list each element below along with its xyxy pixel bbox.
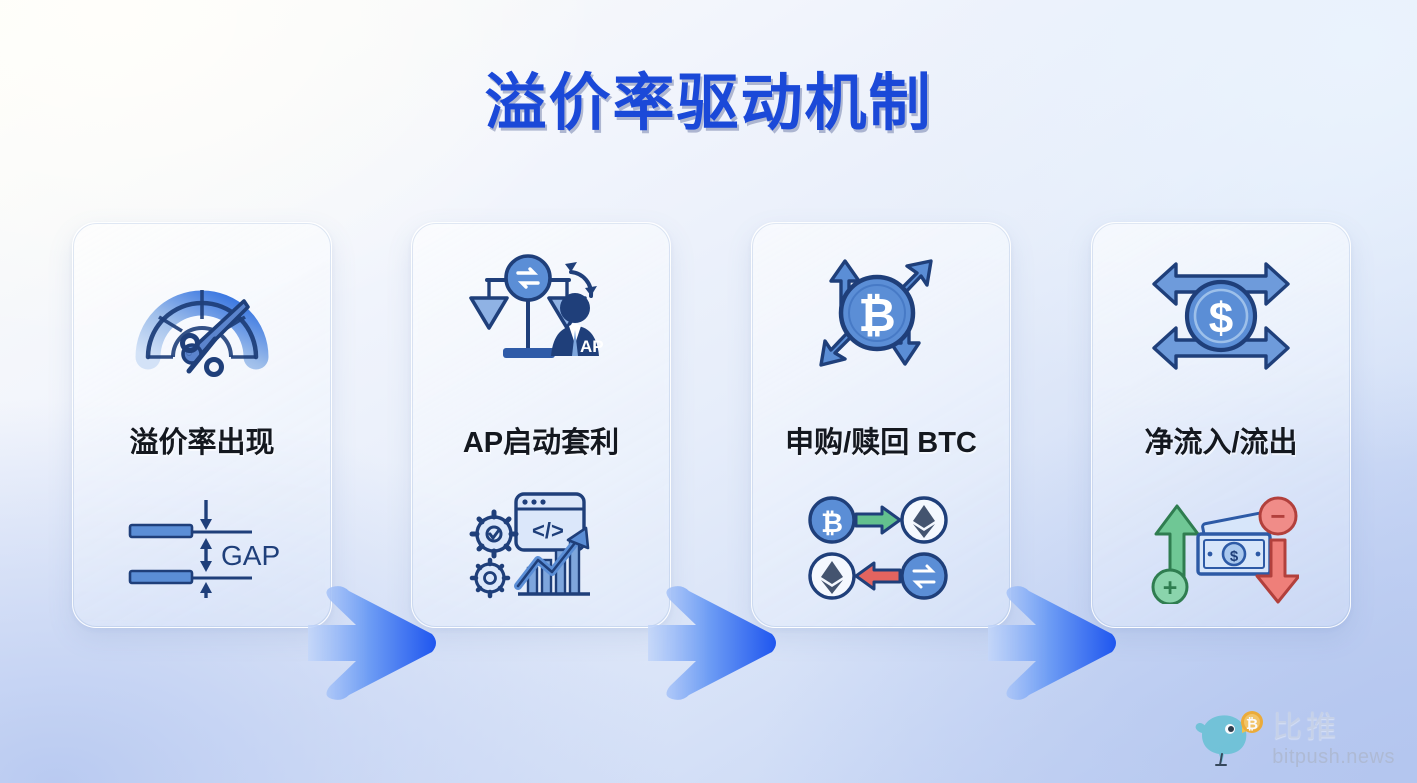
svg-text:$: $	[1229, 548, 1238, 565]
flow-step-label-net-inflow-outflow: 净流入/流出	[1092, 419, 1350, 461]
cash-in-out-icon: + $ −	[1092, 485, 1350, 610]
gears-code-chart-icon: </>	[412, 485, 670, 610]
bitcoin-coin-glyph: ₿	[1246, 716, 1258, 733]
flow-step-label-create-redeem-btc: 申购/赎回 BTC	[752, 419, 1010, 461]
gauge-percent-icon	[73, 247, 331, 387]
flow-step-card-create-redeem-btc[interactable]: ₿ 申购/赎回 BTC ₿	[751, 222, 1011, 628]
ap-badge-label: AP	[580, 337, 604, 356]
gap-label: GAP	[221, 540, 280, 571]
gap-spread-icon: GAP	[73, 485, 331, 610]
plus-glyph: +	[1162, 574, 1177, 602]
flow-step-label-premium-appears: 溢价率出现	[73, 419, 331, 461]
watermark-url: bitpush.news	[1272, 747, 1395, 767]
watermark-brand: 比推	[1272, 713, 1395, 743]
dollar-glyph: $	[1209, 294, 1233, 343]
balance-scales-ap-icon: AP	[412, 247, 670, 387]
bird-bitcoin-logo: ₿	[1192, 705, 1264, 767]
watermark-text: 比推 bitpush.news	[1272, 713, 1395, 767]
code-glyph: </>	[532, 518, 564, 543]
page-title: 溢价率驱动机制	[484, 52, 932, 142]
dollar-bidirectional-arrows-icon: $	[1092, 247, 1350, 387]
flow-step-label-ap-starts-arbitrage: AP启动套利	[412, 419, 670, 461]
flow-connector-arrow-3	[988, 582, 1120, 704]
page-title-container: 溢价率驱动机制	[0, 52, 1417, 142]
minus-glyph: −	[1270, 501, 1285, 531]
flow-step-card-net-inflow-outflow[interactable]: $ 净流入/流出 + $ −	[1091, 222, 1351, 628]
flow-step-card-ap-starts-arbitrage[interactable]: AP AP启动套利 </>	[411, 222, 671, 628]
bitcoin-four-arrows-icon: ₿	[752, 247, 1010, 387]
watermark: ₿ 比推 bitpush.news	[1192, 705, 1395, 767]
flow-steps-row: 溢价率出现	[0, 222, 1417, 632]
flow-connector-arrow-2	[648, 582, 780, 704]
flow-step-card-premium-appears[interactable]: 溢价率出现	[72, 222, 332, 628]
flow-connector-arrow-1	[308, 582, 440, 704]
btc-eth-swap-icon: ₿	[752, 485, 1010, 610]
svg-text:₿: ₿	[821, 508, 843, 538]
bitcoin-glyph: ₿	[858, 289, 896, 341]
